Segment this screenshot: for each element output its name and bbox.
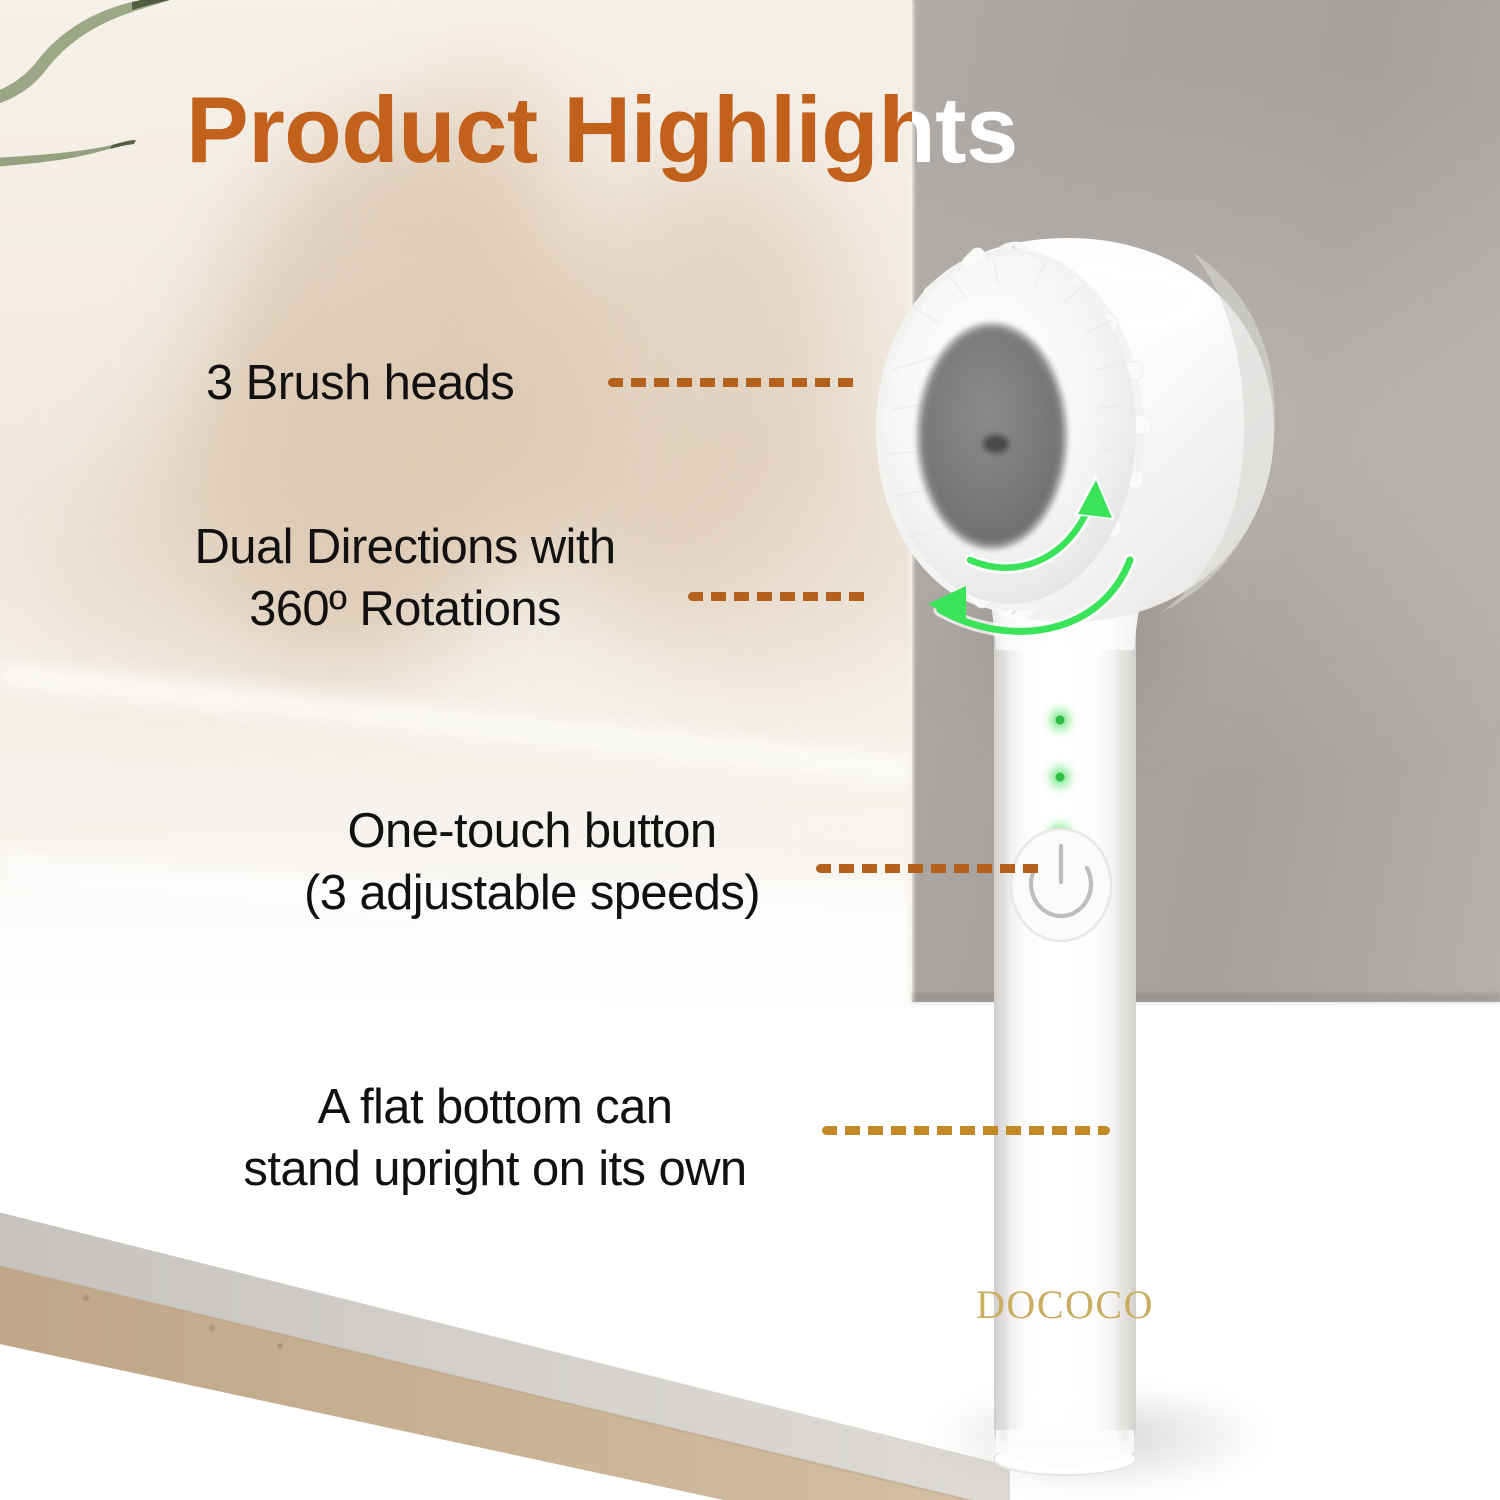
page-title: Product Highlights Product Highlights (186, 70, 1376, 190)
electric-cleaning-brush-device: DOCOCO (862, 230, 1332, 1480)
page-title-right-segment: Product Highlights (912, 70, 1382, 190)
connector-line-flat-bottom (822, 1126, 1110, 1135)
feature-label-brush-heads: 3 Brush heads (206, 352, 514, 414)
page-title-text-white: Product Highlights (912, 70, 1018, 190)
page-title-left-segment: Product Highlights (186, 70, 912, 190)
connector-line-brush-heads (608, 378, 858, 387)
feature-label-one-touch-button: One-touch button (3 adjustable speeds) (262, 800, 802, 924)
connector-line-one-touch-button (816, 864, 1042, 873)
page-title-text-orange: Product Highlights (186, 70, 912, 190)
product-highlights-infographic: Product Highlights Product Highlights (0, 0, 1500, 1500)
power-button (1011, 829, 1111, 941)
connector-line-dual-directions (688, 592, 870, 601)
feature-label-flat-bottom: A flat bottom can stand upright on its o… (160, 1076, 830, 1200)
brand-logo-text: DOCOCO (976, 1282, 1154, 1327)
feature-label-dual-directions: Dual Directions with 360º Rotations (140, 516, 670, 640)
